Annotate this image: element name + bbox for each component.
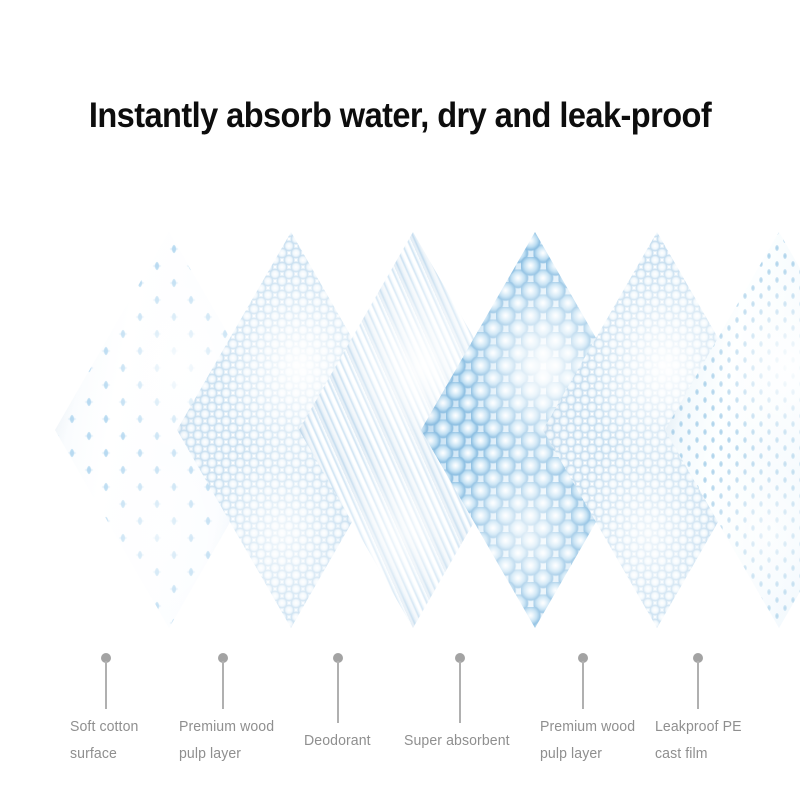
pin-stem bbox=[222, 661, 224, 709]
label-leakproof-pe-cast-film: Leakproof PE cast film bbox=[655, 713, 742, 767]
label-line-2: pulp layer bbox=[540, 740, 635, 767]
pin-stem bbox=[105, 661, 107, 709]
label-line-2: cast film bbox=[655, 740, 742, 767]
label-line-1: Deodorant bbox=[304, 732, 371, 749]
label-deodorant: Deodorant bbox=[304, 727, 371, 754]
label-line-1: Premium wood bbox=[179, 718, 274, 735]
label-premium-wood-pulp-top: Premium wood pulp layer bbox=[179, 713, 274, 767]
label-line-1: Leakproof PE bbox=[655, 718, 742, 735]
label-super-absorbent: Super absorbent bbox=[404, 727, 510, 754]
layer-stack-diagram bbox=[0, 232, 800, 632]
label-line-1: Super absorbent bbox=[404, 732, 510, 749]
pin-stem bbox=[582, 661, 584, 709]
label-premium-wood-pulp-bottom: Premium wood pulp layer bbox=[540, 713, 635, 767]
pin-stem bbox=[697, 661, 699, 709]
label-soft-cotton-surface: Soft cotton surface bbox=[70, 713, 138, 767]
pin-stem bbox=[459, 661, 461, 723]
label-line-1: Soft cotton bbox=[70, 718, 138, 735]
page-title: Instantly absorb water, dry and leak-pro… bbox=[28, 96, 772, 136]
label-line-2: surface bbox=[70, 740, 138, 767]
label-line-1: Premium wood bbox=[540, 718, 635, 735]
label-line-2: pulp layer bbox=[179, 740, 274, 767]
pin-stem bbox=[337, 661, 339, 723]
